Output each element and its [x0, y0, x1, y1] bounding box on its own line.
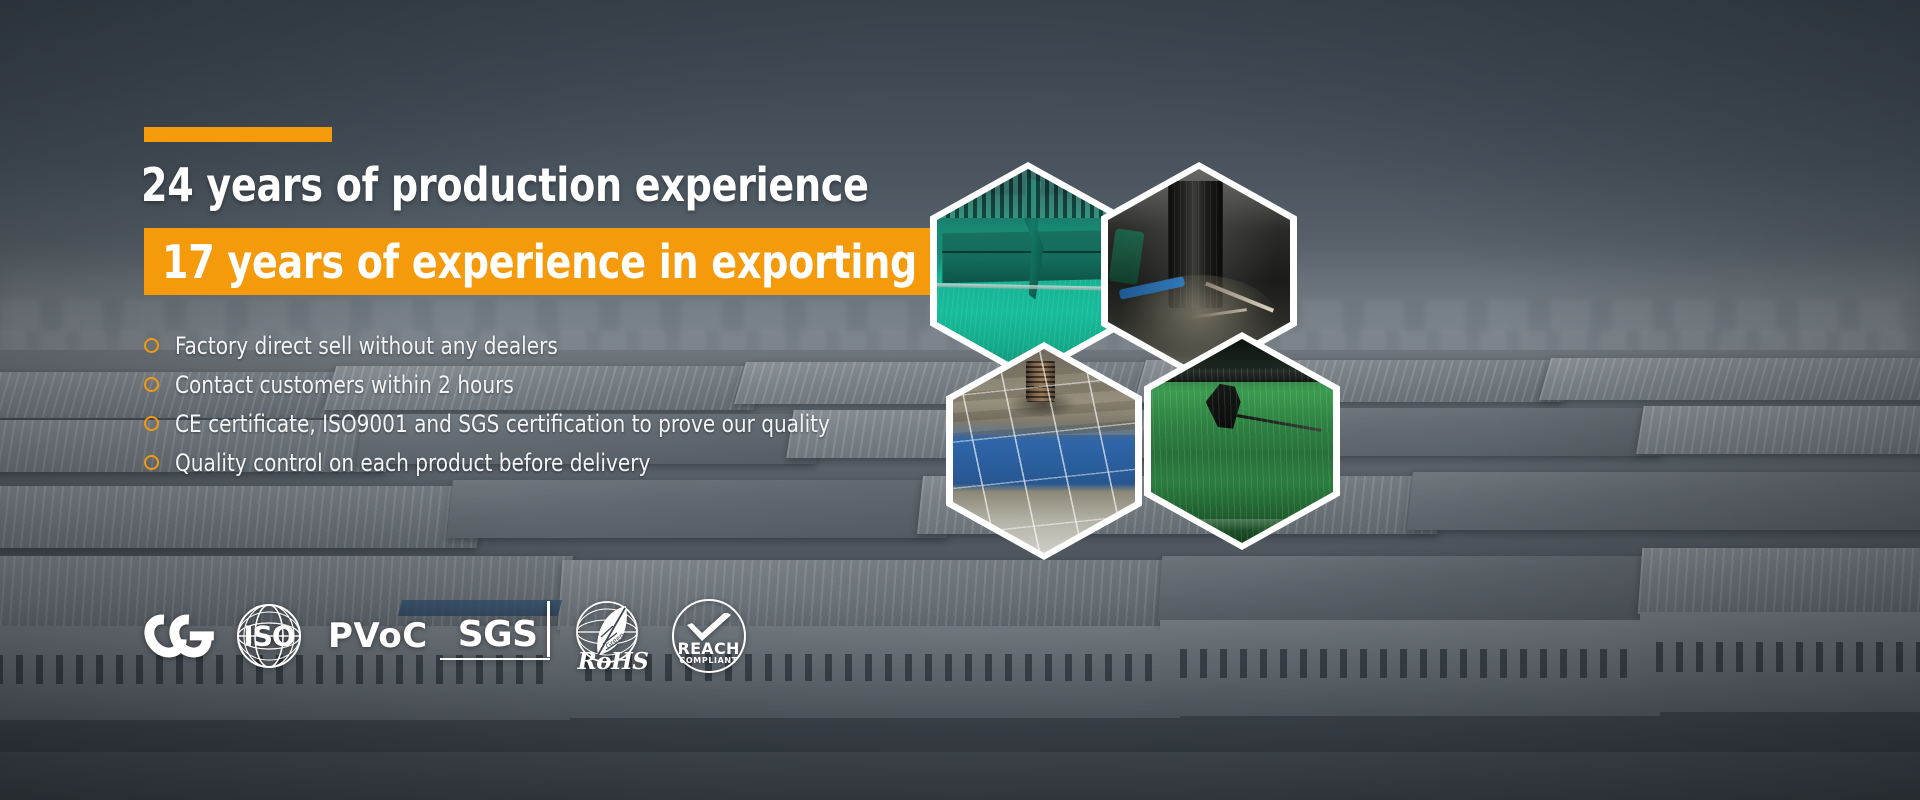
- image-belt: [1151, 339, 1333, 543]
- belt-rod: [1232, 413, 1322, 432]
- list-item: Factory direct sell without any dealers: [144, 326, 879, 365]
- reach-mark-icon: REACH COMPLIANT: [672, 599, 746, 673]
- image-net-loom: [937, 169, 1119, 373]
- reach-sub-label: COMPLIANT: [672, 656, 746, 665]
- iso-globe-icon: ISO: [236, 603, 302, 669]
- rohs-label: RoHS: [578, 648, 649, 675]
- loom-beam-gap: [942, 251, 1113, 253]
- loom-rail: [937, 283, 1119, 291]
- hex-image-frame: [1108, 169, 1290, 373]
- loom-beams: [942, 230, 1113, 283]
- list-item: Contact customers within 2 hours: [144, 365, 879, 404]
- sgs-label: SGS: [458, 617, 538, 653]
- accent-bar: [144, 127, 332, 142]
- ce-mark-icon: CE: [146, 610, 210, 662]
- image-tarp: [953, 349, 1135, 553]
- image-rolls: [1108, 169, 1290, 373]
- page-title: 24 years of production experience: [141, 158, 869, 212]
- belt-nozzle: [1206, 384, 1253, 429]
- list-item-label: Contact customers within 2 hours: [175, 371, 514, 399]
- ring-bullet-icon: [144, 455, 159, 470]
- belt-edge-highlight: [1151, 519, 1333, 531]
- hex-tile-tarp[interactable]: [946, 342, 1142, 560]
- banner-content: 24 years of production experience 17 yea…: [0, 0, 1920, 800]
- feature-list: Factory direct sell without any dealers …: [144, 326, 879, 482]
- highlight-banner: 17 years of experience in exporting: [144, 228, 1005, 295]
- sgs-underline: [440, 658, 550, 661]
- page-subtitle: 17 years of experience in exporting: [162, 235, 917, 289]
- ring-bullet-icon: [144, 338, 159, 353]
- rohs-mark-icon: Green RoHS: [568, 599, 646, 673]
- sgs-mark-icon: SGS: [454, 615, 542, 657]
- iso-label: ISO: [236, 620, 302, 653]
- list-item-label: CE certificate, ISO9001 and SGS certific…: [175, 410, 830, 438]
- ring-bullet-icon: [144, 416, 159, 431]
- sgs-sidebar-line: [547, 601, 550, 657]
- list-item-label: Quality control on each product before d…: [175, 449, 650, 477]
- list-item-label: Factory direct sell without any dealers: [175, 332, 558, 360]
- hexagon-gallery: [930, 140, 1450, 560]
- certification-logo-row: CE ISO PVoC SGS: [146, 598, 772, 674]
- hex-tile-net-loom[interactable]: [930, 162, 1126, 380]
- hex-image-frame: [937, 169, 1119, 373]
- hex-image-frame: [953, 349, 1135, 553]
- pvoc-mark-icon: PVoC: [328, 619, 428, 653]
- hex-image-frame: [1151, 339, 1333, 543]
- rolls-green-part: [1108, 228, 1144, 285]
- tarp-rope-grid: [953, 349, 1135, 553]
- pvoc-label: PVoC: [328, 616, 428, 656]
- belt-rail: [1151, 370, 1333, 382]
- list-item: CE certificate, ISO9001 and SGS certific…: [144, 404, 879, 443]
- list-item: Quality control on each product before d…: [144, 443, 879, 482]
- ring-bullet-icon: [144, 377, 159, 392]
